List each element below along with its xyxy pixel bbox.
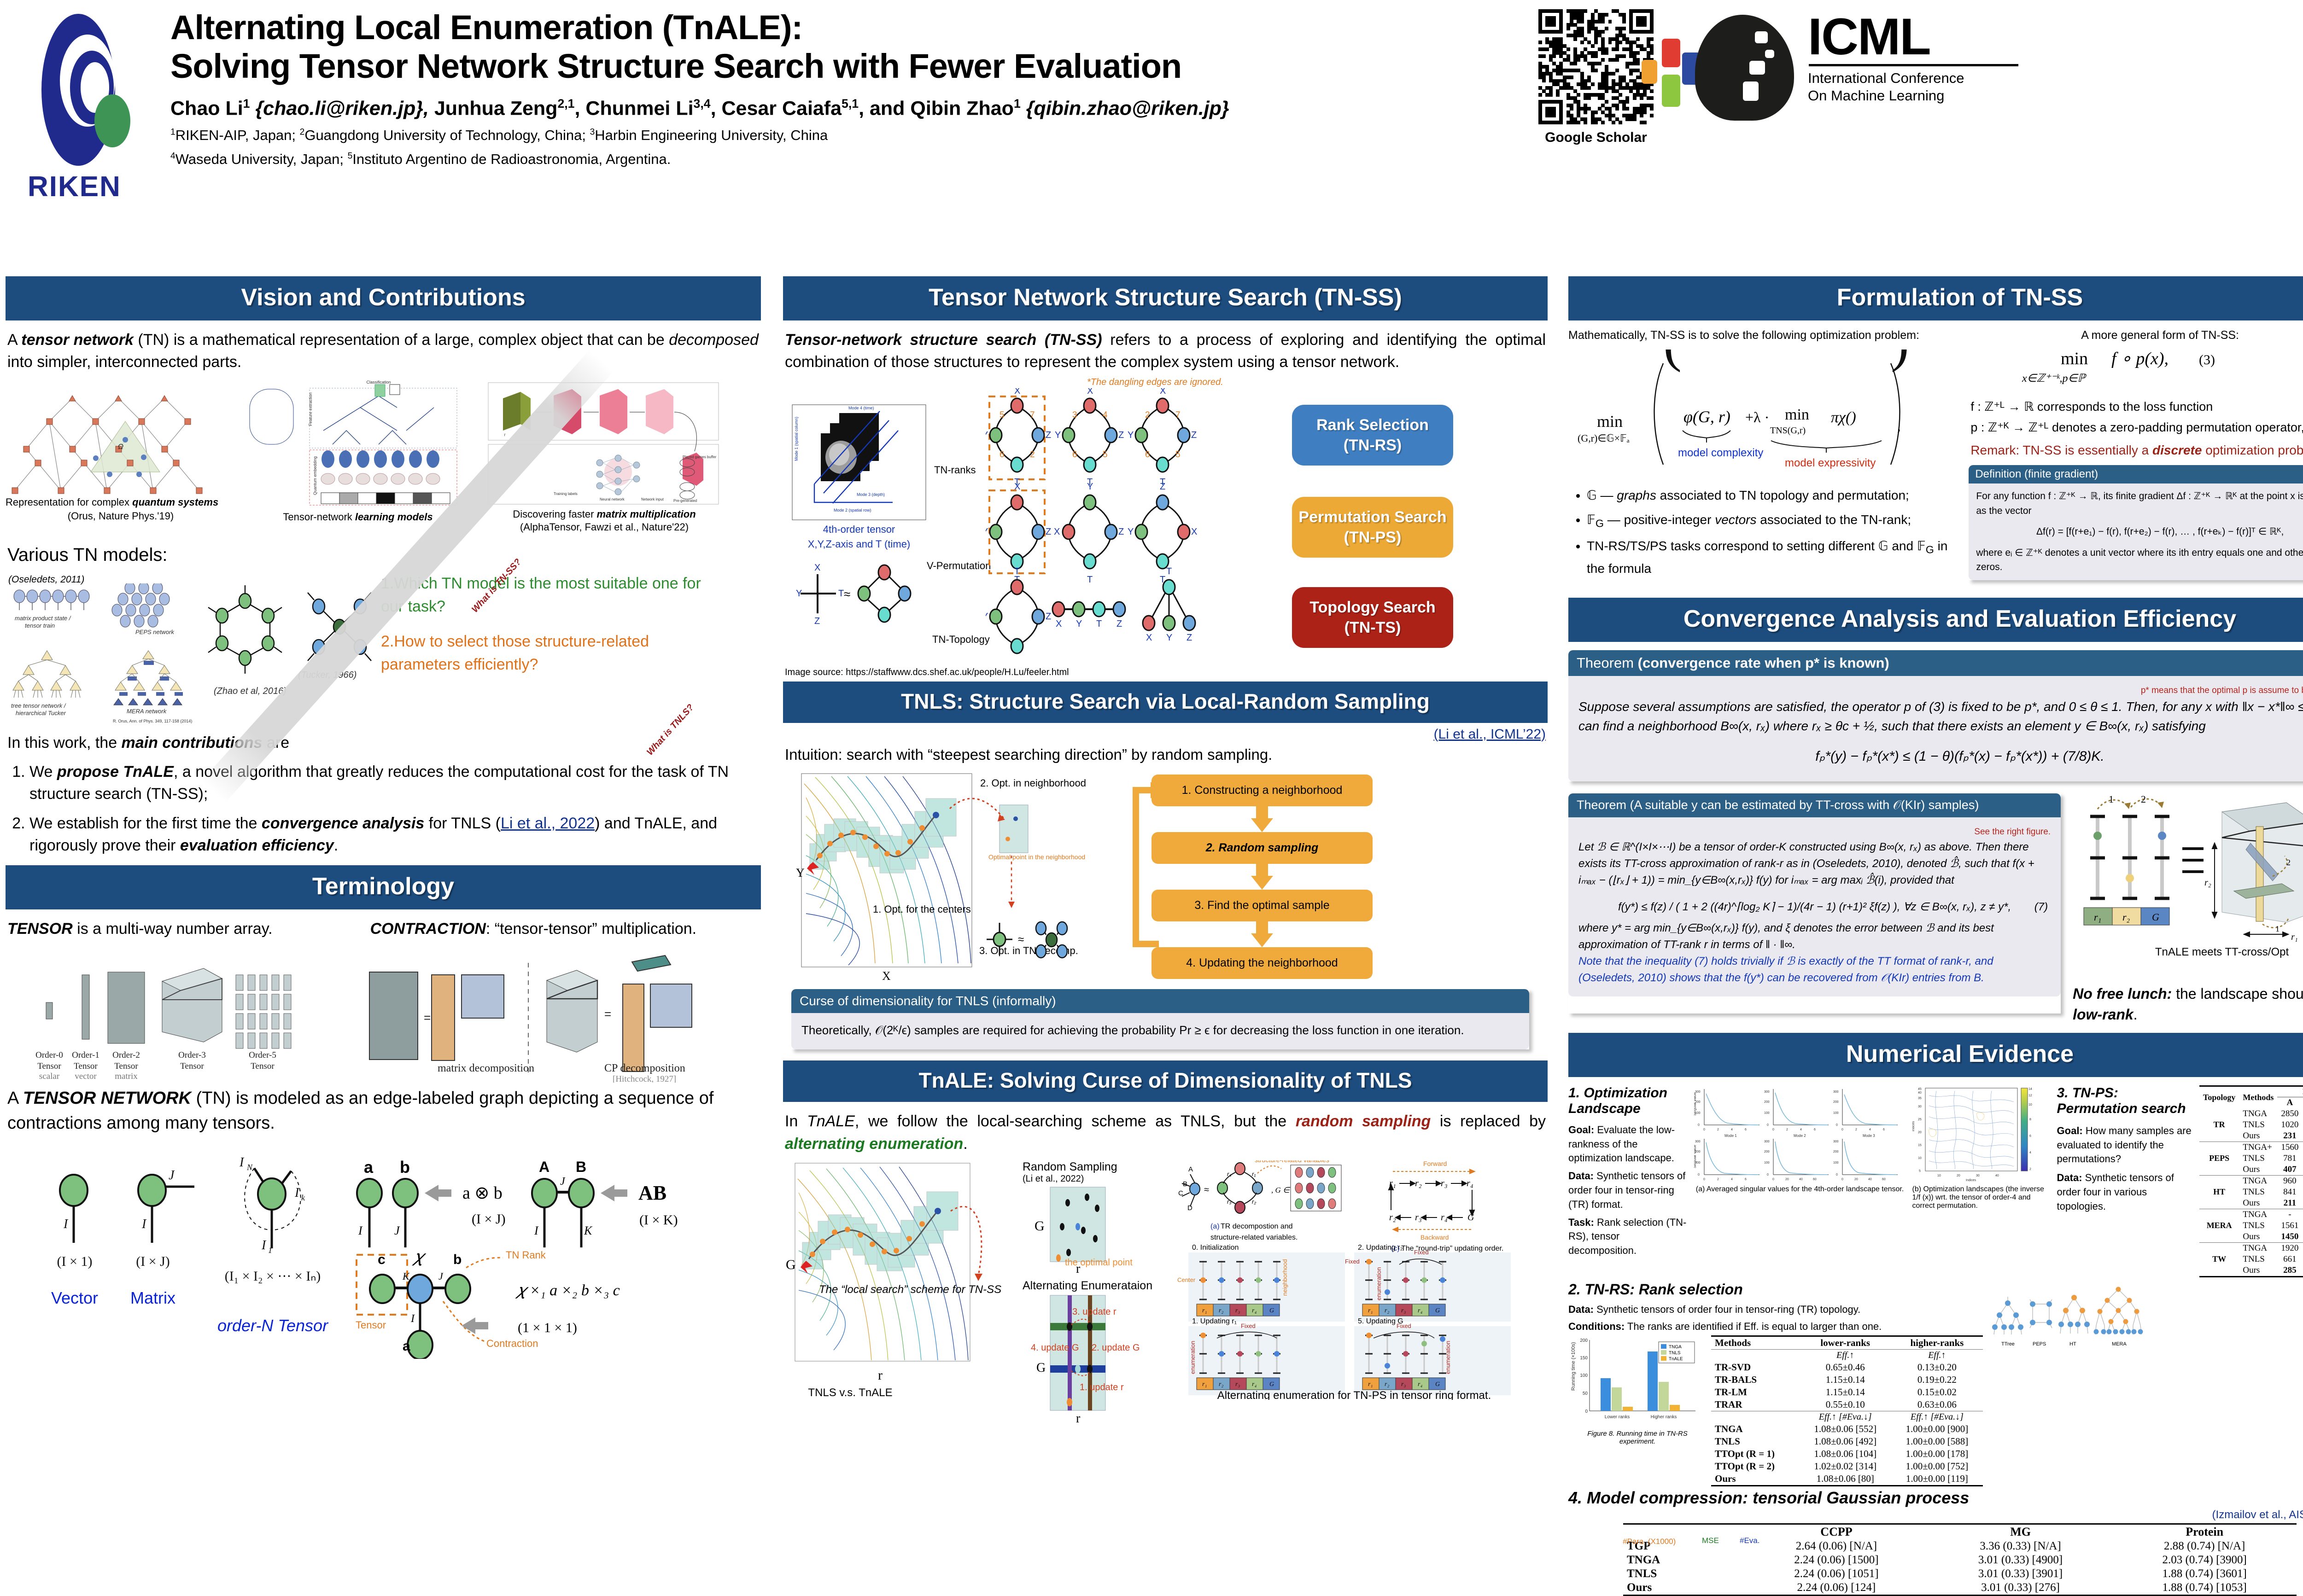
tn-rs-method-cell: TR-LM <box>1711 1386 1800 1398</box>
svg-text:12: 12 <box>2028 1094 2032 1097</box>
flow-connector-3 <box>1256 921 1268 933</box>
section-header-numerical: Numerical Evidence <box>1568 1033 2303 1077</box>
svg-text:Tensor: Tensor <box>74 1061 98 1071</box>
svg-text:6: 6 <box>2029 1135 2031 1138</box>
section-header-tnss: Tensor Network Structure Search (TN-SS) <box>783 276 1548 320</box>
experiment-1-title: 1. Optimization Landscape <box>1568 1085 1688 1117</box>
tnale-landscape-svg: G r The “local search” scheme for TN-SS … <box>786 1160 1044 1400</box>
structure-vars-label: structure-related variables <box>1255 1160 1329 1164</box>
svg-text:r₄: r₄ <box>1418 1307 1422 1314</box>
enumeration-label-c: enumeration <box>1444 1341 1451 1374</box>
tn-rs-value-cell: 1.02±0.02 [314] <box>1800 1460 1891 1473</box>
svg-text:r₃: r₃ <box>1401 1307 1406 1314</box>
tnss-definition-text: Tensor-network structure search (TN-SS) … <box>785 329 1546 373</box>
svg-text:Mode 3 (depth): Mode 3 (depth) <box>857 492 885 497</box>
tn-rs-value-cell: 0.19±0.22 <box>1891 1374 1983 1386</box>
theorem-2-statement-2: where y* = arg min_{y∈B∞(x,rₓ)} f(y), an… <box>1578 920 2051 953</box>
theorem-1-title-pre: Theorem <box>1577 655 1638 671</box>
svg-text:x∈ℤ⁺⁻ᵏ,p∈ℙ: x∈ℤ⁺⁻ᵏ,p∈ℙ <box>2022 373 2087 384</box>
tnss-figure-area: *The dangling edges are ignored. Mode 4 … <box>783 376 1548 666</box>
column-2: Tensor Network Structure Search (TN-SS) … <box>783 276 1548 1418</box>
theorem-2-note: See the right figure. <box>1578 826 2051 839</box>
pill-topology-search[interactable]: Topology Search (TN-TS) <box>1292 587 1453 648</box>
enumeration-label-a: enumeration <box>1375 1267 1382 1300</box>
svg-text:Order-0: Order-0 <box>35 1050 63 1060</box>
svg-text:r: r <box>878 1368 883 1383</box>
svg-text:200: 200 <box>1695 1150 1701 1153</box>
table-row: TNGA1.08±0.06 [552]1.00±0.00 [900] <box>1711 1423 1983 1435</box>
experiment-2-content: 050100 150200 Running time (×100s) <box>1568 1335 1983 1486</box>
random-sampling-svg: G r the optimal point <box>1023 1184 1161 1274</box>
svg-text:Y: Y <box>1166 633 1172 643</box>
svg-text:T: T <box>838 588 844 599</box>
svg-text:T: T <box>1096 619 1102 629</box>
svg-text:c: c <box>378 1252 386 1267</box>
center-label: Center <box>1177 1276 1196 1283</box>
remark-discrete: Remark: TN-SS is essentially a discrete … <box>1970 443 2303 458</box>
svg-text:Running time (×100s): Running time (×100s) <box>1571 1342 1576 1391</box>
label-vector: Vector <box>51 1288 98 1307</box>
tn-rs-header-row: Methods lower-ranks higher-ranks <box>1711 1336 1983 1350</box>
random-sampling-title: Random Sampling <box>1023 1160 1161 1174</box>
theorem-1-title: Theorem (convergence rate when p* is kno… <box>1568 650 2303 676</box>
tn-ps-method-cell: TNLS <box>2239 1187 2277 1198</box>
tn-ps-value-cell: 781 <box>2277 1153 2302 1164</box>
def-p-text: p : ℤ⁺ᴷ → ℤ⁺ᴸ denotes a zero-padding per… <box>1970 420 2303 435</box>
tn-rs-method-cell: TNLS <box>1711 1435 1800 1448</box>
svg-text:r₄: r₄ <box>1418 1381 1422 1388</box>
definition-equation: Δf(r) = [f(r+e₁) − f(r), f(r+e₂) − f(r),… <box>2036 526 2284 537</box>
affil-text-5: Instituto Argentino de Radioastronomia, … <box>352 151 671 167</box>
affil-text-2: Guangdong University of Technology, Chin… <box>304 127 590 143</box>
svg-text:min: min <box>1785 406 1809 423</box>
landscape-contour-panel: 246 8101214 5101520 2530354045 10203040 … <box>1912 1085 2051 1277</box>
row-label-tn-topology: TN-Topology <box>932 633 990 647</box>
author-4-name: Cesar Caiafa <box>722 97 842 119</box>
tn-rs-subheader-cell: Eff.↑ [#Eva.↓] <box>1891 1411 1983 1423</box>
svg-text:0: 0 <box>1585 1409 1588 1414</box>
affil-marker-5: 5 <box>348 151 353 161</box>
svg-text:Pre-generated: Pre-generated <box>673 499 697 503</box>
svg-text:0: 0 <box>1841 1178 1843 1181</box>
svg-text:Neural network: Neural network <box>600 497 625 501</box>
svg-text:100: 100 <box>1695 1112 1701 1115</box>
citation-li-2022[interactable]: Li et al., 2022 <box>501 815 595 832</box>
ale-sub-a-3: structure-related variables. <box>1210 1234 1298 1241</box>
svg-text:Tensor: Tensor <box>251 1061 275 1071</box>
topology-name-peps: PEPS <box>2033 1341 2046 1347</box>
svg-text:r₂: r₂ <box>1219 1381 1223 1388</box>
svg-text:4: 4 <box>2029 1151 2031 1154</box>
tnls-step-2-label: 2. Opt. in neighborhood <box>980 777 1086 789</box>
definition-equation-row: Δf(r) = [f(r+e₁) − f(r), f(r+e₂) − f(r),… <box>1976 524 2303 539</box>
affil-marker-4: 4 <box>170 151 175 161</box>
svg-text:r₁: r₁ <box>1368 1307 1373 1314</box>
mc-method-cell: TNGA <box>1623 1553 1744 1567</box>
tn-rs-value-cell: 0.55±0.10 <box>1800 1398 1891 1411</box>
alternating-enumeration-svg: 3. update r 2. update G 4. update G 1. u… <box>1023 1293 1161 1426</box>
tn-rs-subheader-row-2: Eff.↑ [#Eva.↓]Eff.↑ [#Eva.↓] <box>1711 1411 1983 1423</box>
svg-text:2: 2 <box>1717 1128 1719 1131</box>
experiment-3-data-label: Data: <box>2057 1172 2082 1183</box>
svg-text:Order-1: Order-1 <box>72 1050 99 1060</box>
svg-text:Mode 4 (time): Mode 4 (time) <box>848 406 874 410</box>
svg-text:Indices: Indices <box>1912 1121 1915 1131</box>
row-label-v-permutation: V-Permutation <box>927 559 991 573</box>
tt-cross-figure: 1 2 r₁ r₂ G <box>2070 793 2303 978</box>
tnls-citation: (Li et al., ICML’22) <box>785 727 1546 742</box>
svg-text:4: 4 <box>1869 1128 1871 1131</box>
theorem-1-statement: Suppose several assumptions are satisfie… <box>1578 697 2303 736</box>
svg-text:min: min <box>1597 412 1623 431</box>
svg-text:=: = <box>424 1011 431 1025</box>
affil-marker-3: 3 <box>590 127 595 137</box>
svg-text:X: X <box>1146 633 1152 643</box>
formulation-right: A more general form of TN-SS: min x∈ℤ⁺⁻ᵏ… <box>1969 329 2303 592</box>
svg-text:A: A <box>1188 1165 1193 1173</box>
experiment-4-cite[interactable]: (Izmailov et al., AISTATS'18) <box>2212 1509 2303 1521</box>
svg-text:20: 20 <box>1957 1174 1960 1177</box>
tn-ps-value-cell: 285 <box>2277 1265 2302 1277</box>
experiment-2-title: 2. TN-RS: Rank selection <box>1568 1281 1983 1298</box>
svg-text:1: 1 <box>2109 793 2114 805</box>
figure-learning-models: Feature extraction Quantum embedding Cla… <box>240 380 475 509</box>
icml-square-green <box>1662 75 1680 107</box>
svg-text:a ⊗ b: a ⊗ b <box>462 1183 503 1203</box>
svg-text:200: 200 <box>1833 1101 1839 1104</box>
svg-text:2: 2 <box>1717 1178 1719 1181</box>
caption-alphatensor-b: (AlphaTensor, Fawzi et al., Nature'22) <box>485 521 724 534</box>
tn-ps-method-cell: TNGA <box>2239 1209 2277 1220</box>
svg-text:r₁: r₁ <box>1202 1381 1207 1388</box>
experiment-1-row: 1. Optimization Landscape Goal: Evaluate… <box>1568 1085 2303 1277</box>
tn-ps-col-a: A <box>2277 1097 2302 1108</box>
svg-text:Tensor: Tensor <box>180 1061 204 1071</box>
mc-value-cell: 2.64 (0.06) [N/A] <box>1744 1539 1929 1553</box>
riken-logo: RIKEN <box>14 9 152 212</box>
mc-value-cell: 3.01 (0.33) [3901] <box>1929 1567 2113 1581</box>
svg-text:1: 1 <box>268 1246 272 1255</box>
svg-text:≈: ≈ <box>1018 933 1024 946</box>
caption-4th-order-tensor-1: 4th-order tensor <box>823 524 895 535</box>
experiment-1-caption-b: (b) Optimization landscapes (the inverse… <box>1912 1185 2051 1210</box>
svg-text:I: I <box>63 1217 69 1231</box>
icml-brain-icon <box>1695 15 1794 121</box>
svg-text:X: X <box>1056 619 1062 629</box>
annotation-num-params: #Para. (X1000) <box>1623 1537 1676 1546</box>
table-row: TR-LM1.15±0.140.15±0.02 <box>1711 1386 1983 1398</box>
svg-text:X: X <box>1014 388 1020 396</box>
tn-rs-value-cell: 0.15±0.02 <box>1891 1386 1983 1398</box>
svg-text:20: 20 <box>1854 1178 1858 1181</box>
svg-text:G: G <box>1036 1361 1046 1375</box>
svg-text:X: X <box>814 563 820 573</box>
tn-rs-subheader-cell: Eff.↑ [#Eva.↓] <box>1800 1411 1891 1423</box>
svg-text:2: 2 <box>2029 1168 2031 1171</box>
ale-schematic-svg: AB CD ≈ r₄ r₁ r₃ r₂ <box>1175 1160 1538 1400</box>
svg-text:G: G <box>1269 1307 1274 1314</box>
bar-tnls-higher <box>1659 1382 1669 1411</box>
chart-legend: TNGA TNLS TnALE <box>1659 1342 1695 1363</box>
bullet-tasks: TN-RS/TS/PS tasks correspond to setting … <box>1587 536 1958 579</box>
tn-ps-topology-cell: MERA <box>2199 1209 2239 1242</box>
tensor-equivalence-figure: XYTZ ≈ <box>792 560 930 629</box>
svg-text:I: I <box>239 1155 245 1170</box>
tn-ps-method-cell: Ours <box>2239 1130 2277 1142</box>
tn-ps-method-cell: Ours <box>2239 1164 2277 1176</box>
svg-text:r₂: r₂ <box>1219 1307 1223 1314</box>
icml-brain-hole-1 <box>1755 31 1768 43</box>
mc-value-cell: 2.03 (0.74) [3900] <box>2112 1553 2297 1567</box>
svg-text:Optimal point in the neighborh: Optimal point in the neighborhood <box>988 853 1085 861</box>
experiment-2-data-label: Data: <box>1568 1304 1594 1315</box>
model-compression-table-wrap: CCPP MG Protein TGP2.64 (0.06) [N/A]3.36… <box>1568 1523 2303 1596</box>
mc-method-cell: TNLS <box>1623 1567 1744 1581</box>
svg-text:J: J <box>560 1176 566 1188</box>
svg-text:Y: Y <box>796 866 805 880</box>
pill-permutation-search-line1: Permutation Search <box>1297 507 1449 527</box>
svg-text:40: 40 <box>1995 1174 1999 1177</box>
svg-text:I: I <box>358 1224 363 1237</box>
pill-rank-selection-line2: (TN-RS) <box>1297 435 1449 455</box>
svg-text:200: 200 <box>1764 1150 1770 1153</box>
svg-text:Mode 2: Mode 2 <box>1794 1134 1806 1138</box>
pill-permutation-search-line2: (TN-PS) <box>1297 527 1449 548</box>
tn-rs-method-cell: Ours <box>1711 1473 1800 1486</box>
svg-text:100: 100 <box>1695 1161 1701 1165</box>
svg-text:≈: ≈ <box>844 587 850 601</box>
svg-text:6: 6 <box>1145 450 1150 460</box>
tt-cross-caption: TnALE meets TT-cross/Opt <box>2155 946 2289 958</box>
fixed-label-b: Fixed <box>1414 1249 1429 1256</box>
svg-text:300: 300 <box>1833 1090 1839 1094</box>
legend-tnls: TNLS <box>1669 1351 1681 1356</box>
contributions-list: We propose TnALE, a novel algorithm that… <box>6 761 761 857</box>
author-2-affil-marker: 2,1 <box>557 97 574 111</box>
svg-text:5: 5 <box>1175 450 1181 460</box>
author-list: Chao Li1 {chao.li@riken.jp}, Junhua Zeng… <box>170 96 1492 121</box>
section-header-terminology: Terminology <box>6 865 761 909</box>
svg-text:,: , <box>1897 419 1901 434</box>
svg-text:J: J <box>169 1168 175 1182</box>
svg-text:5: 5 <box>1103 450 1108 460</box>
svg-text:I: I <box>141 1217 147 1231</box>
svg-text:r₂: r₂ <box>2204 878 2211 888</box>
tnss-rings-svg: 57 62 X Y Z T 34 65 X Y Z <box>986 388 1262 655</box>
svg-text:60: 60 <box>1882 1178 1886 1181</box>
svg-text:100: 100 <box>1833 1112 1839 1115</box>
svg-text:2: 2 <box>1145 410 1150 420</box>
svg-text:πχ(𝉓): πχ(𝉓) <box>1831 409 1856 426</box>
experiment-1-data: Data: Synthetic tensors of order four in… <box>1568 1169 1688 1212</box>
svg-text:r₁: r₁ <box>1252 1171 1256 1177</box>
author-2-sep: , <box>575 97 580 119</box>
qr-code-icon[interactable] <box>1538 9 1654 124</box>
singular-value-svg: Singular value Singular value 0100200300… <box>1694 1085 1906 1182</box>
svg-text:Mode 3: Mode 3 <box>1863 1134 1875 1138</box>
mc-value-cell: 3.36 (0.33) [N/A] <box>1929 1539 2113 1553</box>
svg-text:300: 300 <box>1764 1090 1770 1094</box>
tn-ps-table: Topology Methods Data − #Eva. ↓ A B C D … <box>2199 1085 2303 1277</box>
column-1: Vision and Contributions A tensor networ… <box>6 276 761 1359</box>
table-row: TRTNGA2850225039001950 <box>2199 1108 2303 1119</box>
svg-text:G: G <box>1435 1381 1440 1388</box>
tn-rs-table-wrap: Methods lower-ranks higher-ranks Eff.↑Ef… <box>1711 1335 1983 1486</box>
svg-text:(I × 1): (I × 1) <box>57 1254 93 1269</box>
svg-text:f ∘ p(x),: f ∘ p(x), <box>2111 349 2169 368</box>
svg-text:200: 200 <box>1695 1101 1701 1104</box>
svg-text:Mode 1 (spatial column): Mode 1 (spatial column) <box>794 416 799 460</box>
svg-text:X: X <box>1191 527 1197 537</box>
mc-table-head: CCPP MG Protein <box>1623 1524 2297 1540</box>
fixed-label-c: Fixed <box>1241 1322 1256 1329</box>
svg-text:(: ( <box>1663 349 1682 373</box>
svg-text:0: 0 <box>1836 1124 1838 1127</box>
icml-brain-hole-4 <box>1743 82 1759 101</box>
svg-text:Y: Y <box>986 430 988 440</box>
flow-arrow-1 <box>1251 818 1273 832</box>
experiment-4-block: 4. Model compression: tensorial Gaussian… <box>1568 1488 2303 1596</box>
general-form-title: A more general form of TN-SS: <box>1969 329 2303 342</box>
xtick-higher-ranks: Higher ranks <box>1651 1415 1677 1420</box>
svg-text:r₄: r₄ <box>1227 1171 1232 1177</box>
svg-text:Z: Z <box>1118 430 1124 440</box>
svg-text:D: D <box>1187 1204 1192 1212</box>
tn-rs-value-cell: 1.00±0.00 [752] <box>1891 1460 1983 1473</box>
topology-name-ttree: TTree <box>2001 1341 2015 1347</box>
update-step-3: 3. update r <box>1072 1307 1116 1317</box>
tn-rs-value-cell: 1.08±0.06 [80] <box>1800 1473 1891 1486</box>
pill-permutation-search[interactable]: Permutation Search (TN-PS) <box>1292 497 1453 558</box>
table-row: TNLS1.08±0.06 [492]1.00±0.00 [588] <box>1711 1435 1983 1448</box>
svg-text:6: 6 <box>1745 1178 1747 1181</box>
experiment-3-goal: Goal: How many samples are evaluated to … <box>2057 1124 2193 1166</box>
tnale-caption-left: TNLS v.s. TnALE <box>808 1386 892 1399</box>
svg-text:r₁: r₁ <box>2094 911 2101 923</box>
bullet-graphs: 𝔾 — graphs associated to TN topology and… <box>1587 485 1958 506</box>
svg-text:X: X <box>1054 527 1060 537</box>
svg-text:20: 20 <box>1918 1131 1922 1134</box>
pill-rank-selection-line1: Rank Selection <box>1297 415 1449 435</box>
svg-text:Training labels: Training labels <box>554 492 578 496</box>
label-tn-rank: TN Rank <box>506 1249 546 1261</box>
legend-tnale: TnALE <box>1669 1357 1683 1362</box>
svg-text:200: 200 <box>1764 1101 1770 1104</box>
svg-text:G: G <box>786 1257 796 1272</box>
tn-rs-table: Methods lower-ranks higher-ranks Eff.↑Ef… <box>1711 1335 1983 1486</box>
experiment-2-cond-label: Conditions: <box>1568 1321 1625 1332</box>
notation-svg: I IJ IN Ik I1 (I × 1) (I × J) (I₁ × I₂ ×… <box>6 1142 756 1359</box>
tn-ps-table-wrap: Topology Methods Data − #Eva. ↓ A B C D … <box>2199 1085 2303 1277</box>
tn-ps-group-header: Data − #Eva. ↓ <box>2277 1086 2303 1097</box>
svg-text:0: 0 <box>1698 1173 1700 1177</box>
pill-rank-selection[interactable]: Rank Selection (TN-RS) <box>1292 405 1453 466</box>
svg-text:100: 100 <box>1764 1161 1770 1165</box>
svg-text:150: 150 <box>1580 1356 1588 1361</box>
qr-code-label: Google Scholar <box>1522 130 1670 146</box>
svg-text:0: 0 <box>1772 1128 1774 1131</box>
svg-text:Z: Z <box>1187 633 1192 643</box>
math-intro-text: Mathematically, TN-SS is to solve the fo… <box>1568 329 1958 342</box>
svg-text:X: X <box>1014 482 1020 492</box>
mc-value-cell: 3.01 (0.33) [4900] <box>1929 1553 2113 1567</box>
svg-text:Tensor: Tensor <box>114 1061 138 1071</box>
flow-connector-2 <box>1256 864 1268 876</box>
svg-text:3: 3 <box>1072 410 1077 420</box>
svg-text:PEPS network: PEPS network <box>135 629 175 635</box>
author-3-affil-marker: 3,4 <box>694 97 711 111</box>
svg-text:Singular value: Singular value <box>1694 1145 1697 1168</box>
experiment-1-caption-a: (a) Averaged singular values for the 4th… <box>1694 1185 1906 1194</box>
running-time-chart-wrap: 050100 150200 Running time (×100s) <box>1568 1335 1707 1486</box>
svg-text:7: 7 <box>1030 410 1035 420</box>
tn-ps-method-cell: TNLS <box>2239 1119 2277 1130</box>
bar-tnls-lower <box>1612 1387 1622 1411</box>
author-5-name: Qibin Zhao <box>910 97 1014 119</box>
svg-text:200: 200 <box>1833 1150 1839 1153</box>
svg-text:tensor train: tensor train <box>25 622 55 629</box>
no-free-lunch-text: No free lunch: the landscape should be l… <box>2073 984 2303 1025</box>
table-row: TGP2.64 (0.06) [N/A]3.36 (0.33) [N/A]2.8… <box>1623 1539 2297 1553</box>
svg-text:100: 100 <box>1764 1112 1770 1115</box>
mc-value-cell: 1.88 (0.74) [3601] <box>2112 1567 2297 1581</box>
caption-quantum-b: (Orus, Nature Phys.'19) <box>6 510 236 523</box>
tn-rs-col-higher: higher-ranks <box>1891 1336 1983 1350</box>
svg-text:I: I <box>410 1313 415 1325</box>
svg-text:AB: AB <box>638 1182 666 1204</box>
optimal-point-label: the optimal point <box>1065 1258 1133 1268</box>
section-header-formulation: Formulation of TN-SS <box>1568 276 2303 320</box>
general-form-equation: min x∈ℤ⁺⁻ᵏ,p∈ℙ f ∘ p(x), (3) <box>1969 342 2303 393</box>
tn-rs-method-cell: TR-BALS <box>1711 1374 1800 1386</box>
svg-text:2: 2 <box>1855 1128 1857 1131</box>
tn-ps-table-head: Topology Methods Data − #Eva. ↓ A B C D <box>2199 1086 2303 1108</box>
svg-text:T: T <box>1087 575 1093 585</box>
table-row: TR-SVD0.65±0.460.13±0.20 <box>1711 1361 1983 1374</box>
ale-step-0: 0. Initialization <box>1192 1244 1239 1252</box>
svg-text:Indices: Indices <box>1966 1179 1976 1182</box>
icml-square-red <box>1662 39 1680 67</box>
svg-text:r₂: r₂ <box>1252 1198 1256 1205</box>
mc-value-cell: 2.24 (0.06) [1500] <box>1744 1553 1929 1567</box>
svg-text:40: 40 <box>1868 1178 1872 1181</box>
svg-text:Y: Y <box>1087 482 1093 492</box>
experiment-1-task: Task: Rank selection (TN-RS), tensor dec… <box>1568 1216 1688 1258</box>
section-header-vision: Vision and Contributions <box>6 276 761 320</box>
tn-ps-value-cell: 2850 <box>2277 1108 2302 1119</box>
svg-text:Z: Z <box>1118 527 1124 537</box>
experiment-2-data: Data: Synthetic tensors of order four in… <box>1568 1303 1983 1317</box>
ale-sub-a-2: TR decompostion and <box>1221 1223 1293 1230</box>
svg-text:r₂: r₂ <box>2122 911 2130 923</box>
mc-col-ccpp: CCPP <box>1744 1524 1929 1540</box>
svg-text:B: B <box>576 1159 586 1175</box>
experiment-2-block: 2. TN-RS: Rank selection Data: Synthetic… <box>1568 1281 1983 1487</box>
svg-text:30: 30 <box>1918 1105 1922 1108</box>
svg-text:MERA network: MERA network <box>127 708 167 715</box>
svg-text:k: k <box>301 1193 305 1202</box>
mc-table-body: TGP2.64 (0.06) [N/A]3.36 (0.33) [N/A]2.8… <box>1623 1539 2297 1596</box>
svg-text:30: 30 <box>1976 1174 1980 1177</box>
flow-arrow-3 <box>1251 933 1273 947</box>
forward-label: Forward <box>1423 1160 1447 1167</box>
svg-text:Y: Y <box>986 612 988 622</box>
svg-text:2: 2 <box>2141 793 2146 805</box>
svg-text:6: 6 <box>1000 450 1005 460</box>
svg-text:(I × J): (I × J) <box>472 1212 506 1227</box>
tn-rs-table-head: Methods lower-ranks higher-ranks <box>1711 1336 1983 1350</box>
table-row: TTOpt (R = 2)1.02±0.02 [314]1.00±0.00 [7… <box>1711 1460 1983 1473</box>
